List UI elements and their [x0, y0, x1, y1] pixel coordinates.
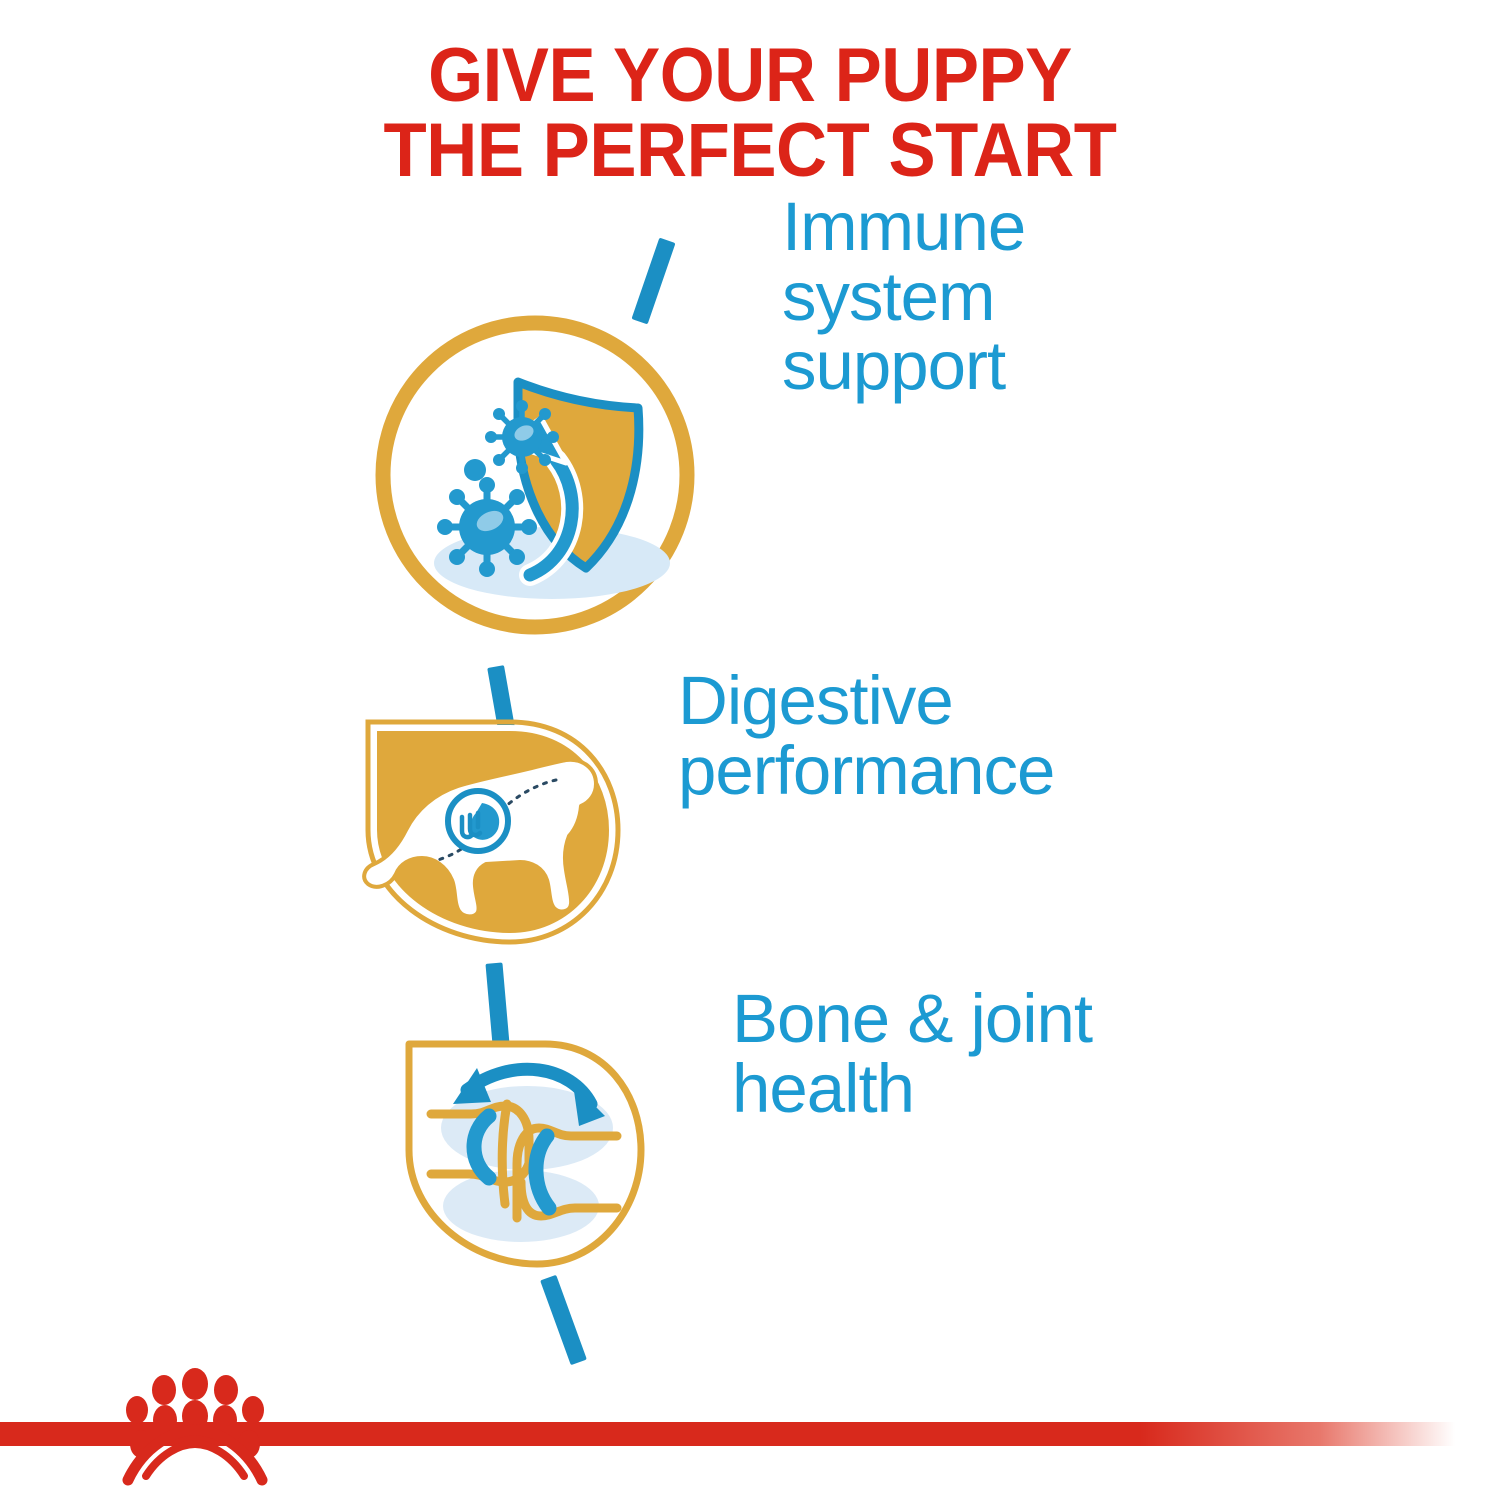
virus-dot	[464, 459, 486, 481]
immune-system-shield-icon	[370, 310, 700, 640]
headline-line-2: THE PERFECT START	[53, 113, 1448, 188]
benefit-row-digestive: Digestive performance	[360, 718, 630, 948]
digestive-performance-dog-icon	[360, 718, 630, 948]
bone-joint-health-icon	[395, 1032, 655, 1282]
benefit-label-immune: Immune system support	[782, 192, 1302, 401]
digestive-icon-svg	[360, 718, 630, 948]
benefit-row-bone-joint: Bone & joint health	[395, 1032, 655, 1282]
poster-canvas: GIVE YOUR PUPPY THE PERFECT START	[0, 0, 1500, 1500]
page-title: GIVE YOUR PUPPY THE PERFECT START	[53, 38, 1448, 188]
headline-line-1: GIVE YOUR PUPPY	[428, 33, 1072, 118]
benefit-label-digestive: Digestive performance	[678, 666, 1298, 805]
gold-joint-line	[502, 1104, 507, 1204]
crown-arc-inner	[146, 1444, 244, 1476]
benefit-label-bone-joint: Bone & joint health	[732, 984, 1292, 1123]
blue-cartilage-lower	[536, 1136, 549, 1208]
bone-joint-icon-svg	[395, 1032, 655, 1282]
immune-icon-svg	[370, 310, 700, 640]
connector-dash-bottom	[540, 1275, 587, 1365]
royal-canin-crown-logo	[110, 1368, 280, 1490]
blue-stomach-badge	[448, 791, 508, 851]
benefit-row-immune: Immune system support	[370, 310, 700, 640]
virus-large	[437, 477, 537, 577]
crown-svg	[110, 1368, 280, 1490]
virus-small	[485, 400, 559, 474]
